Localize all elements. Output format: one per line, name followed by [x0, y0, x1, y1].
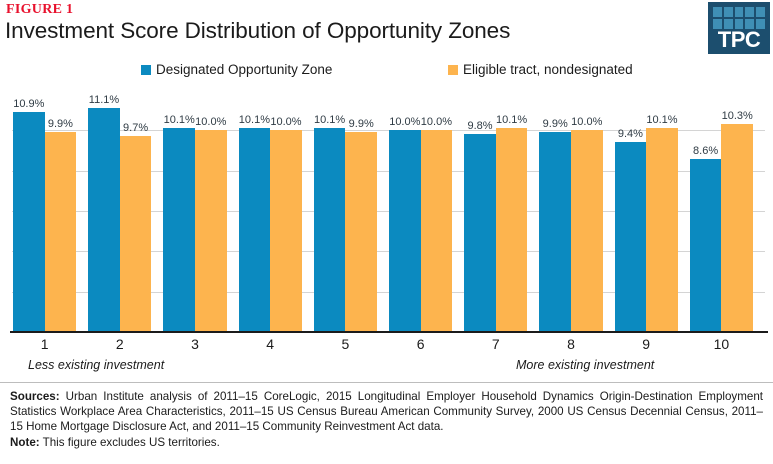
bar-value-label: 9.7%	[123, 122, 148, 134]
bar-group: 10.1%10.0%	[163, 90, 226, 332]
bar-item[interactable]: 10.1%	[646, 90, 678, 332]
bar-item[interactable]: 9.8%	[464, 90, 496, 332]
note-text: Note: This figure excludes US territorie…	[10, 435, 763, 450]
bar-value-label: 8.6%	[693, 145, 718, 157]
bar-item[interactable]: 10.0%	[571, 90, 603, 332]
bar[interactable]	[314, 128, 346, 332]
sources-text: Sources: Urban Institute analysis of 201…	[10, 389, 763, 434]
bar-value-label: 10.0%	[389, 116, 420, 128]
bar-item[interactable]: 9.9%	[45, 90, 77, 332]
x-axis-tick-label: 4	[266, 336, 274, 352]
bar-group: 10.1%9.9%	[314, 90, 377, 332]
logo-square	[735, 7, 744, 17]
bar-group: 10.0%10.0%	[389, 90, 452, 332]
bar-value-label: 10.1%	[164, 114, 195, 126]
chart-plot-area: 10.9%9.9%11.1%9.7%10.1%10.0%10.1%10.0%10…	[0, 90, 773, 335]
bar-value-label: 10.1%	[496, 114, 527, 126]
legend-swatch-icon	[141, 65, 151, 75]
bar-value-label: 10.1%	[314, 114, 345, 126]
bar-item[interactable]: 10.0%	[389, 90, 421, 332]
bar-group: 10.1%10.0%	[239, 90, 302, 332]
bar[interactable]	[270, 130, 302, 332]
sources-lead: Sources:	[10, 390, 60, 403]
bar[interactable]	[571, 130, 603, 332]
bar-item[interactable]: 9.9%	[345, 90, 377, 332]
bar-item[interactable]: 10.1%	[163, 90, 195, 332]
logo-text: TPC	[708, 28, 770, 52]
figure-footer: Sources: Urban Institute analysis of 201…	[0, 382, 773, 464]
chart-x-axis-ticks: 12345678910	[0, 336, 773, 358]
bar[interactable]	[45, 132, 77, 332]
bar[interactable]	[13, 112, 45, 332]
bar-item[interactable]: 10.1%	[314, 90, 346, 332]
bar-item[interactable]: 10.3%	[721, 90, 753, 332]
chart-legend: Designated Opportunity Zone Eligible tra…	[0, 60, 773, 84]
logo-square	[713, 7, 722, 17]
bar-value-label: 9.4%	[618, 128, 643, 140]
logo-square	[756, 7, 765, 17]
x-axis-tick-label: 6	[417, 336, 425, 352]
bar-value-label: 9.8%	[467, 120, 492, 132]
bar-item[interactable]: 11.1%	[88, 90, 120, 332]
bar-item[interactable]: 9.4%	[615, 90, 647, 332]
bar[interactable]	[345, 132, 377, 332]
bar-value-label: 9.9%	[48, 118, 73, 130]
bar[interactable]	[721, 124, 753, 332]
bar[interactable]	[389, 130, 421, 332]
bar-group: 10.9%9.9%	[13, 90, 76, 332]
x-axis-tick-label: 5	[341, 336, 349, 352]
chart-baseline-axis	[10, 331, 768, 333]
bar-value-label: 10.3%	[722, 110, 753, 122]
chart-bars: 10.9%9.9%11.1%9.7%10.1%10.0%10.1%10.0%10…	[0, 90, 773, 332]
bar-group: 11.1%9.7%	[88, 90, 151, 332]
bar-group: 9.4%10.1%	[615, 90, 678, 332]
x-axis-tick-label: 8	[567, 336, 575, 352]
legend-item-eligible: Eligible tract, nondesignated	[448, 62, 633, 77]
bar-item[interactable]: 10.0%	[195, 90, 227, 332]
bar-value-label: 10.0%	[270, 116, 301, 128]
logo-grid-icon	[713, 7, 765, 29]
legend-swatch-icon	[448, 65, 458, 75]
axis-note-right: More existing investment	[516, 358, 654, 372]
bar[interactable]	[690, 159, 722, 332]
bar[interactable]	[464, 134, 496, 332]
bar-item[interactable]: 10.1%	[496, 90, 528, 332]
tpc-logo: TPC	[708, 2, 770, 54]
bar-item[interactable]: 8.6%	[690, 90, 722, 332]
bar-value-label: 9.9%	[349, 118, 374, 130]
bar-value-label: 11.1%	[89, 94, 119, 106]
bar[interactable]	[496, 128, 528, 332]
bar[interactable]	[615, 142, 647, 332]
bar-value-label: 10.1%	[239, 114, 270, 126]
figure-number-label: FIGURE 1	[6, 2, 73, 18]
x-axis-tick-label: 3	[191, 336, 199, 352]
bar-item[interactable]: 10.1%	[239, 90, 271, 332]
bar[interactable]	[421, 130, 453, 332]
figure-header: FIGURE 1 Investment Score Distribution o…	[0, 0, 773, 56]
bar-value-label: 10.1%	[646, 114, 677, 126]
bar-item[interactable]: 10.0%	[270, 90, 302, 332]
bar[interactable]	[539, 132, 571, 332]
sources-body: Urban Institute analysis of 2011–15 Core…	[10, 390, 763, 433]
bar-group: 8.6%10.3%	[690, 90, 753, 332]
x-axis-tick-label: 9	[642, 336, 650, 352]
bar-item[interactable]: 9.9%	[539, 90, 571, 332]
note-body: This figure excludes US territories.	[40, 436, 220, 449]
x-axis-tick-label: 7	[492, 336, 500, 352]
logo-square	[724, 7, 733, 17]
bar[interactable]	[163, 128, 195, 332]
logo-square	[745, 7, 754, 17]
bar-value-label: 10.0%	[421, 116, 452, 128]
bar[interactable]	[195, 130, 227, 332]
bar-value-label: 10.9%	[13, 98, 44, 110]
legend-label: Designated Opportunity Zone	[156, 62, 332, 77]
note-lead: Note:	[10, 436, 40, 449]
bar-item[interactable]: 9.7%	[120, 90, 152, 332]
bar[interactable]	[239, 128, 271, 332]
figure-page: FIGURE 1 Investment Score Distribution o…	[0, 0, 773, 464]
page-title: Investment Score Distribution of Opportu…	[5, 18, 510, 44]
bar[interactable]	[646, 128, 678, 332]
bar-value-label: 9.9%	[543, 118, 568, 130]
axis-note-left: Less existing investment	[28, 358, 164, 372]
bar-value-label: 10.0%	[195, 116, 226, 128]
legend-label: Eligible tract, nondesignated	[463, 62, 633, 77]
bar[interactable]	[88, 108, 120, 332]
bar-group: 9.8%10.1%	[464, 90, 527, 332]
bar-item[interactable]: 10.9%	[13, 90, 45, 332]
bar-value-label: 10.0%	[571, 116, 602, 128]
x-axis-tick-label: 2	[116, 336, 124, 352]
legend-item-designated: Designated Opportunity Zone	[141, 62, 332, 77]
bar[interactable]	[120, 136, 152, 332]
bar-group: 9.9%10.0%	[539, 90, 602, 332]
bar-item[interactable]: 10.0%	[421, 90, 453, 332]
x-axis-tick-label: 1	[41, 336, 49, 352]
x-axis-tick-label: 10	[714, 336, 730, 352]
